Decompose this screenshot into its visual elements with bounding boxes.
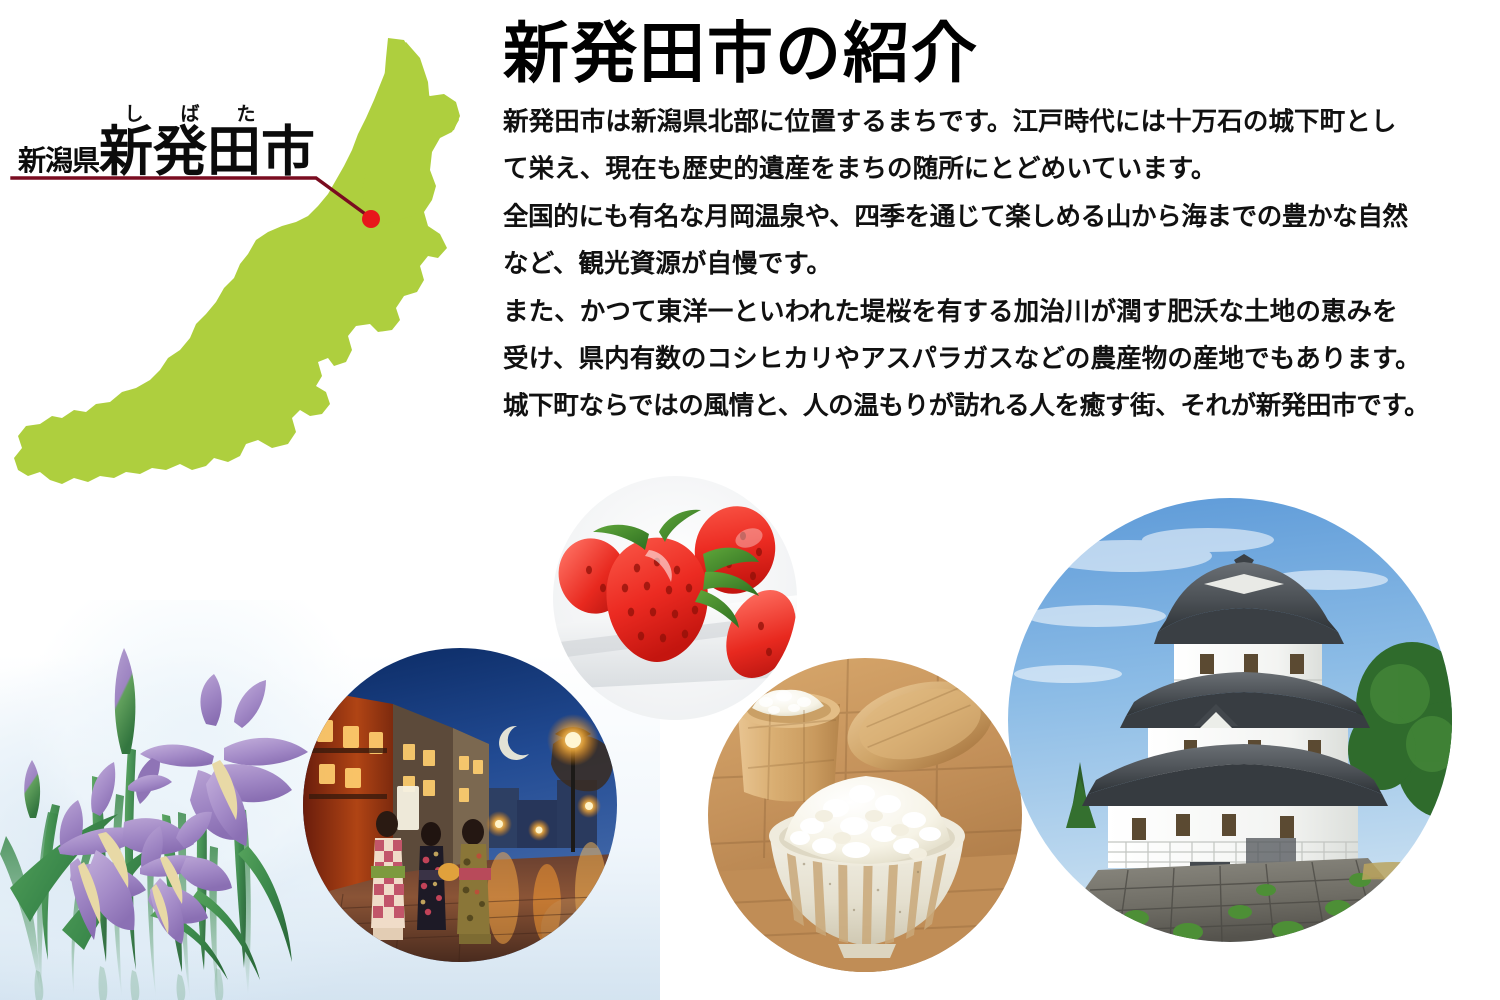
body-line-3: 全国的にも有名な月岡温泉や、四季を通じて楽しめる山から海までの豊かな自然 bbox=[503, 193, 1483, 240]
rice-bowl-photo bbox=[708, 658, 1022, 972]
onsen-town-night-photo bbox=[303, 648, 617, 962]
shibata-castle-photo bbox=[1008, 498, 1452, 942]
content-column: 新発田市の紹介 新発田市は新潟県北部に位置するまちです。江戸時代には十万石の城下… bbox=[503, 18, 1483, 430]
page-title: 新発田市の紹介 bbox=[503, 18, 1483, 92]
iris-flower-1 bbox=[136, 674, 308, 846]
prefecture-name: 新潟県 bbox=[18, 148, 99, 179]
strawberries-photo bbox=[553, 476, 797, 720]
niigata-map: し ば た 新潟県 新発田市 bbox=[0, 20, 500, 500]
body-line-1: 新発田市は新潟県北部に位置するまちです。江戸時代には十万石の城下町とし bbox=[503, 98, 1483, 145]
body-line-4: など、観光資源が自慢です。 bbox=[503, 240, 1483, 287]
iris-flowers-illustration bbox=[0, 600, 330, 1000]
body-line-2: て栄え、現在も歴史的遺産をまちの随所にとどめいています。 bbox=[503, 145, 1483, 192]
niigata-map-svg bbox=[0, 20, 500, 500]
page-root: し ば た 新潟県 新発田市 新発田市の紹介 新発田市は新潟県北部に位置するまち… bbox=[0, 0, 1500, 1000]
region-label: し ば た 新潟県 新発田市 bbox=[18, 105, 315, 179]
body-copy: 新発田市は新潟県北部に位置するまちです。江戸時代には十万石の城下町とし て栄え、… bbox=[503, 98, 1483, 430]
body-line-6: 受け、県内有数のコシヒカリやアスパラガスなどの農産物の産地でもあります。 bbox=[503, 335, 1483, 382]
body-line-7: 城下町ならではの風情と、人の温もりが訪れる人を癒す街、それが新発田市です。 bbox=[503, 382, 1483, 429]
map-location-dot bbox=[362, 210, 380, 228]
body-line-5: また、かつて東洋一といわれた堤桜を有する加治川が潤す肥沃な土地の恵みを bbox=[503, 288, 1483, 335]
city-name: 新発田市 bbox=[99, 126, 315, 179]
